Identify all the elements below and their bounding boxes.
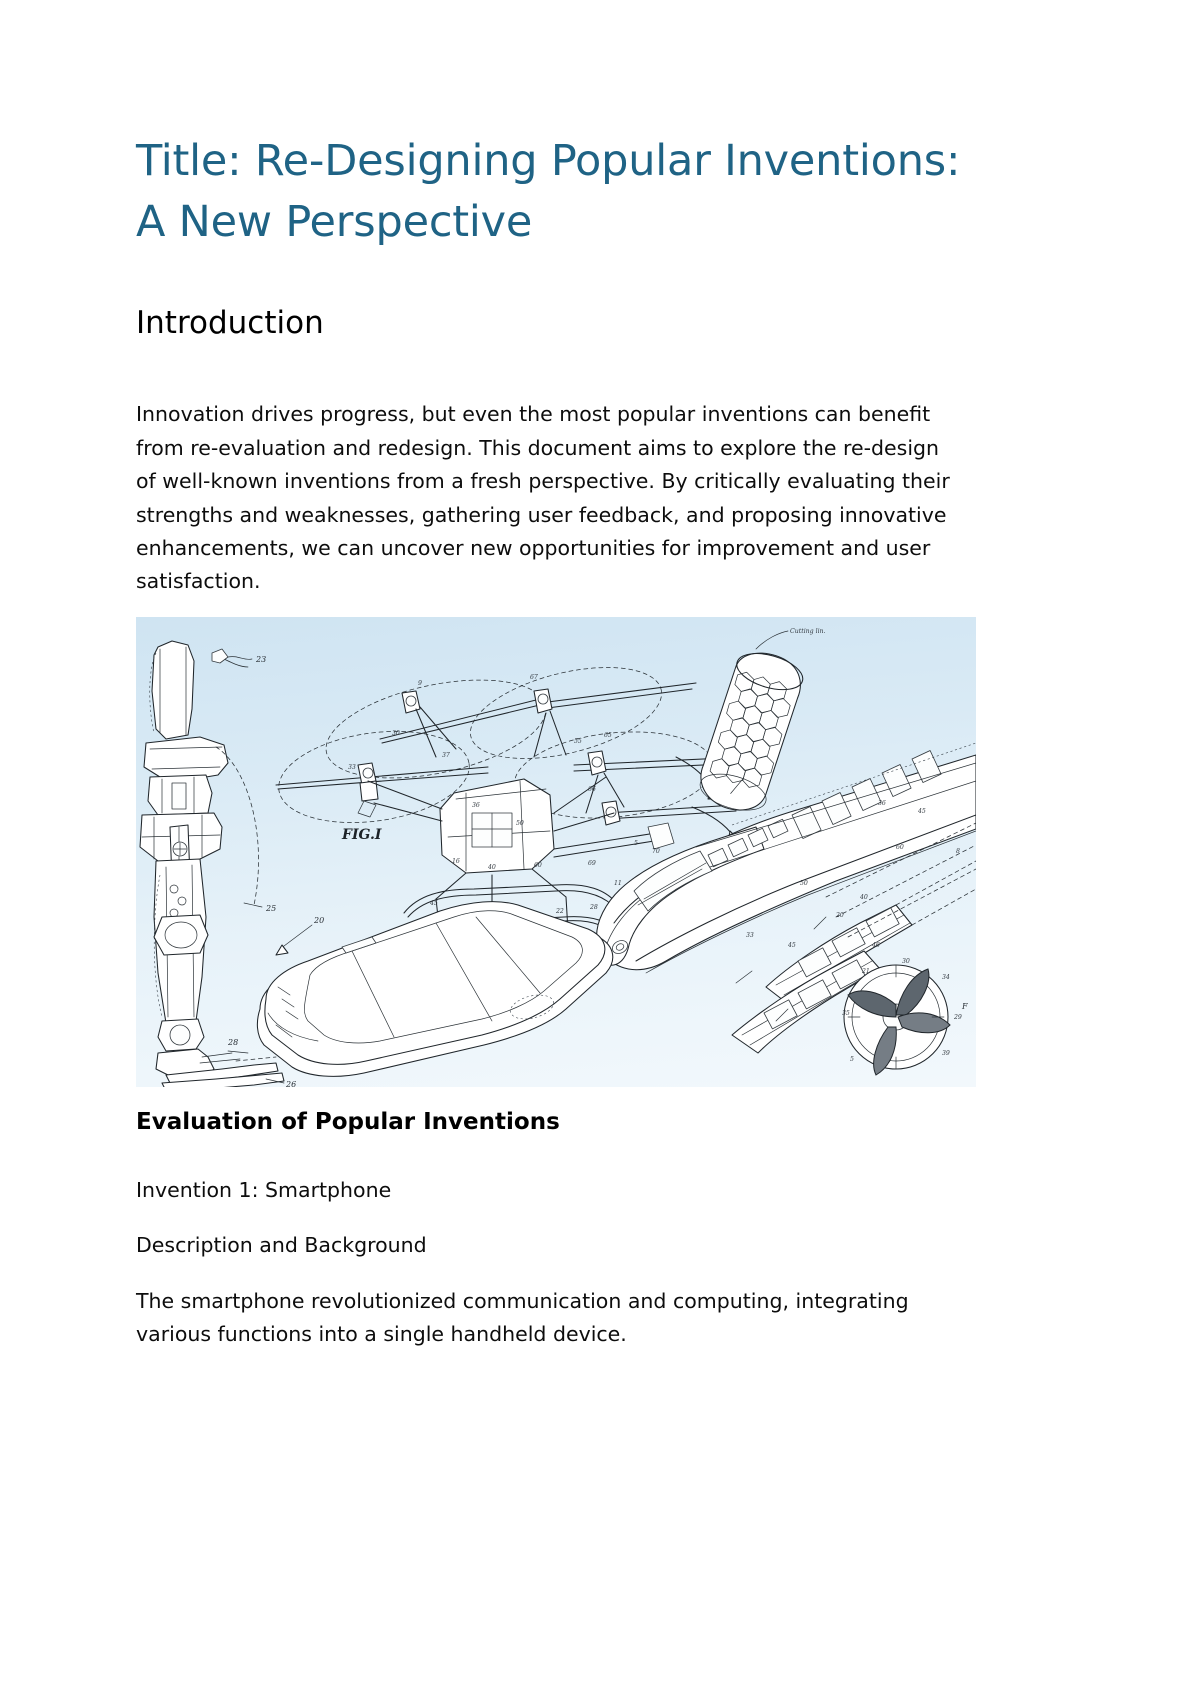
figure-callout-r46: 46 [871, 942, 880, 949]
figure-callout-r8: 8 [956, 848, 960, 855]
figure-callout-r20: 20 [835, 912, 844, 919]
figure-callout-50: 50 [516, 820, 524, 827]
figure-callout-40: 40 [487, 864, 496, 871]
paragraph-description-background: Description and Background [136, 1207, 964, 1262]
figure-callout-t30: 30 [902, 958, 910, 965]
figure-callout-22: 22 [555, 908, 564, 915]
honeycomb-cylinder-drawing [694, 645, 808, 819]
figure-cutting-line-label: Cutting lin. [790, 628, 826, 635]
document-page: Title: Re-Designing Popular Inventions: … [0, 0, 1200, 1696]
figure-inventions-collage: 23 25 28 26 [136, 617, 976, 1087]
figure-callout-r40: 40 [859, 894, 868, 901]
figure-callout-t5: 5 [850, 1056, 854, 1063]
figure-callout-70: 70 [652, 848, 660, 855]
figure-caption-fig1: FIG.I [341, 827, 382, 843]
figure-callout-26: 26 [285, 1080, 296, 1087]
figure-callout-25: 25 [265, 904, 276, 913]
figure-callout-69: 69 [588, 860, 596, 867]
figure-callout-t34: 34 [942, 974, 950, 981]
page-title: Title: Re-Designing Popular Inventions: … [136, 0, 966, 253]
figure-callout-r50: 50 [800, 880, 808, 887]
figure-callout-t35: 35 [842, 1010, 850, 1017]
figure-callout-66: 66 [588, 786, 596, 793]
figure-callout-t39: 39 [942, 1050, 950, 1057]
figure-callout-28: 28 [227, 1038, 238, 1047]
paragraph-invention-1: Invention 1: Smartphone [136, 1138, 964, 1207]
figure-callout-5: 5 [634, 840, 638, 847]
figure-callout-23: 23 [255, 655, 266, 664]
figure-callout-67: 67 [530, 674, 538, 681]
document-content: Title: Re-Designing Popular Inventions: … [136, 0, 976, 1351]
figure-callout-55: 55 [574, 738, 582, 745]
figure-callout-28b: 28 [589, 904, 598, 911]
figure-callout-9: 9 [418, 680, 422, 687]
figure-callout-60: 60 [534, 862, 542, 869]
figure-callout-65: 65 [604, 732, 612, 739]
figure-callout-t29: 29 [953, 1014, 962, 1021]
figure-callout-30: 30 [392, 730, 400, 737]
figure-callout-16: 16 [452, 858, 460, 865]
patent-illustration-svg: 23 25 28 26 [136, 617, 976, 1087]
figure-callout-r60: 60 [896, 844, 904, 851]
figure-callout-t21: 21 [861, 968, 870, 975]
figure-callout-r45b: 45 [787, 942, 796, 949]
figure-callout-r45: 45 [917, 808, 926, 815]
figure-callout-45: 45 [429, 900, 438, 907]
figure-callout-37: 37 [442, 752, 450, 759]
figure-callout-11: 11 [614, 880, 622, 887]
figure-callout-33: 33 [348, 764, 356, 771]
heading-evaluation: Evaluation of Popular Inventions [136, 1087, 976, 1138]
paragraph-smartphone-body: The smartphone revolutionized communicat… [136, 1263, 964, 1352]
figure-callout-36: 36 [472, 802, 480, 809]
heading-introduction: Introduction [136, 253, 976, 343]
figure-callout-20: 20 [313, 916, 324, 925]
paragraph-introduction: Innovation drives progress, but even the… [136, 343, 964, 598]
figure-callout-r36: 36 [878, 800, 886, 807]
smartphone-drawing: 20 [257, 901, 612, 1076]
figure-callout-tF: F [961, 1002, 968, 1011]
figure-callout-r33: 33 [746, 932, 754, 939]
